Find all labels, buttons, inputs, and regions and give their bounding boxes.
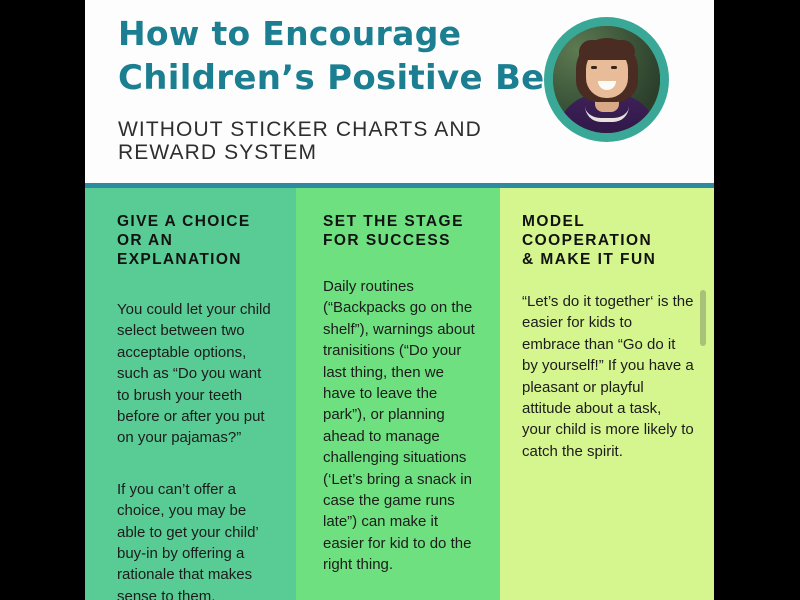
subtitle-line-2: REWARD SYSTEM (118, 141, 568, 164)
video-content-frame: How to Encourage Children’s Positive Beh… (85, 0, 714, 600)
tips-columns-container: GIVE A CHOICE OR AN EXPLANATION You coul… (85, 188, 714, 600)
column-paragraph: Daily routines (“Backpacks go on the she… (323, 276, 480, 576)
screen-root: How to Encourage Children’s Positive Beh… (0, 0, 800, 600)
portrait-eye-left (591, 66, 597, 69)
header-section: How to Encourage Children’s Positive Beh… (85, 0, 714, 183)
column-paragraph: You could let your child select between … (117, 299, 276, 449)
column-give-a-choice: GIVE A CHOICE OR AN EXPLANATION You coul… (85, 188, 296, 600)
title-line-1: How to Encourage (118, 12, 558, 56)
column-paragraph: “Let’s do it together‘ is the easier for… (522, 291, 694, 462)
column-paragraph: If you can’t offer a choice, you may be … (117, 479, 276, 600)
title-block: How to Encourage Children’s Positive Beh… (118, 12, 558, 100)
column-model-cooperation: MODEL COOPERATION & MAKE IT FUN “Let’s d… (500, 188, 714, 600)
column-set-the-stage: SET THE STAGE FOR SUCCESS Daily routines… (296, 188, 500, 600)
column-scrollbar-thumb[interactable] (700, 290, 706, 346)
title-line-2: Children’s Positive Behavior (118, 56, 558, 100)
column-heading-model-cooperation: MODEL COOPERATION & MAKE IT FUN (522, 212, 694, 269)
portrait-fringe (579, 40, 635, 60)
portrait-eye-right (611, 66, 617, 69)
column-heading-give-a-choice: GIVE A CHOICE OR AN EXPLANATION (117, 212, 276, 269)
subtitle-line-1: WITHOUT STICKER CHARTS AND (118, 118, 568, 141)
presenter-portrait-avatar (544, 17, 669, 142)
column-heading-set-the-stage: SET THE STAGE FOR SUCCESS (323, 212, 480, 250)
portrait-photo (553, 26, 660, 133)
subtitle-block: WITHOUT STICKER CHARTS AND REWARD SYSTEM (118, 118, 568, 164)
